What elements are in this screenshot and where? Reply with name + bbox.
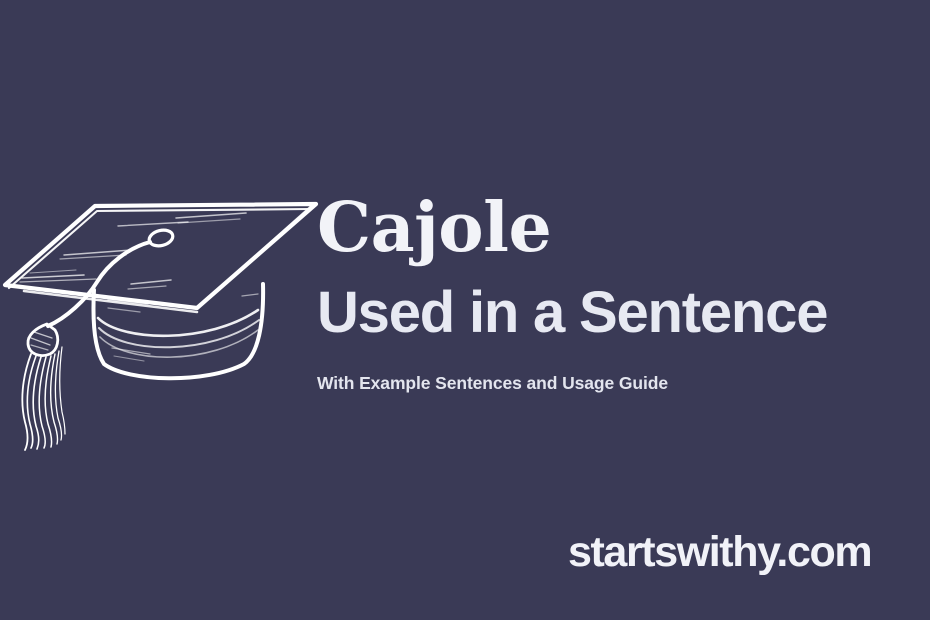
tagline: With Example Sentences and Usage Guide [317, 344, 917, 394]
graduation-cap-illustration [0, 178, 320, 453]
graduation-cap-sketch-icon [0, 178, 320, 453]
page-title-word: Cajole [317, 192, 917, 264]
brand-domain: startswithy.com [568, 528, 871, 576]
headline: Used in a Sentence [317, 264, 917, 344]
hero-text-block: Cajole Used in a Sentence With Example S… [317, 192, 917, 394]
social-share-card: Cajole Used in a Sentence With Example S… [0, 0, 930, 620]
